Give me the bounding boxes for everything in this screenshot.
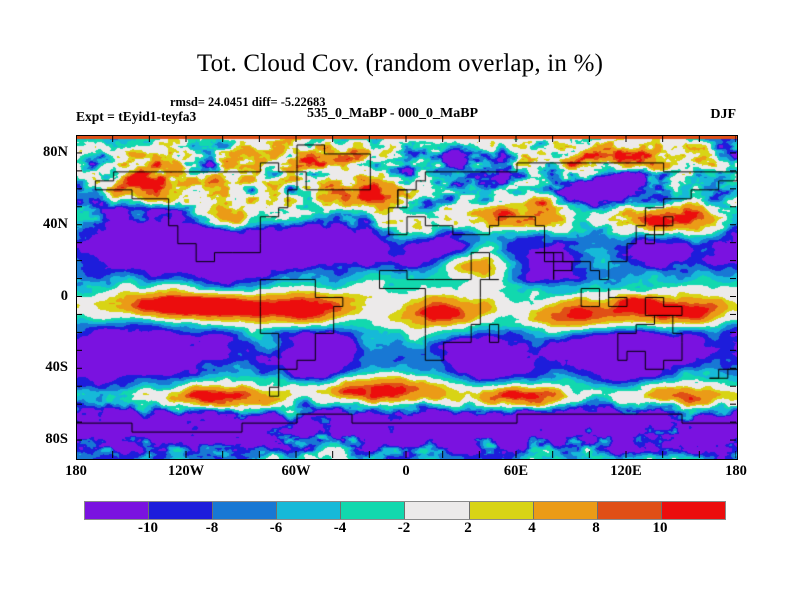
colorbar-segment-medium-blue [213,502,277,519]
y-tick-label: 40N [8,216,68,233]
colorbar-segment-blue [149,502,213,519]
colorbar-segment-red-orange [598,502,662,519]
colorbar-segment-orange [534,502,598,519]
colorbar-tick-label: 8 [566,520,626,537]
colorbar-segment-violet [85,502,149,519]
colorbar-tick-label: -2 [374,520,434,537]
x-tick-label: 60E [481,463,551,480]
x-tick-label: 60W [261,463,331,480]
experiment-label: Expt = tEyid1-teyfa3 [76,109,196,125]
x-tick-label: 120E [591,463,661,480]
map-plot-area [76,135,738,460]
colorbar-tick-label: -4 [310,520,370,537]
colorbar-segment-yellow [470,502,534,519]
page-title: Tot. Cloud Cov. (random overlap, in %) [0,50,800,78]
x-tick-label: 0 [371,463,441,480]
colorbar-tick-label: -8 [182,520,242,537]
y-tick-label: 80S [8,431,68,448]
colorbar-tick-label: -6 [246,520,306,537]
colorbar-tick-label: 2 [438,520,498,537]
x-tick-label: 180 [41,463,111,480]
x-tick-label: 180 [701,463,771,480]
colorbar-segment-white [405,502,469,519]
colorbar-segment-red [662,502,725,519]
contour-map-canvas [77,136,737,459]
colorbar-tick-label: 4 [502,520,562,537]
y-tick-label: 40S [8,359,68,376]
y-tick-label: 0 [8,288,68,305]
y-tick-label: 80N [8,144,68,161]
statistics-annotation: rmsd= 24.0451 diff= -5.22683 [170,95,326,110]
case-comparison-label: 535_0_MaBP - 000_0_MaBP [307,106,478,122]
colorbar-labels: -10-8-6-4-224810 [84,520,724,542]
colorbar-segment-spring-green [341,502,405,519]
season-label: DJF [710,107,736,123]
colorbar-segment-cyan [277,502,341,519]
colorbar-tick-label: 10 [630,520,690,537]
colorbar [84,501,726,520]
x-tick-label: 120W [151,463,221,480]
colorbar-tick-label: -10 [118,520,178,537]
